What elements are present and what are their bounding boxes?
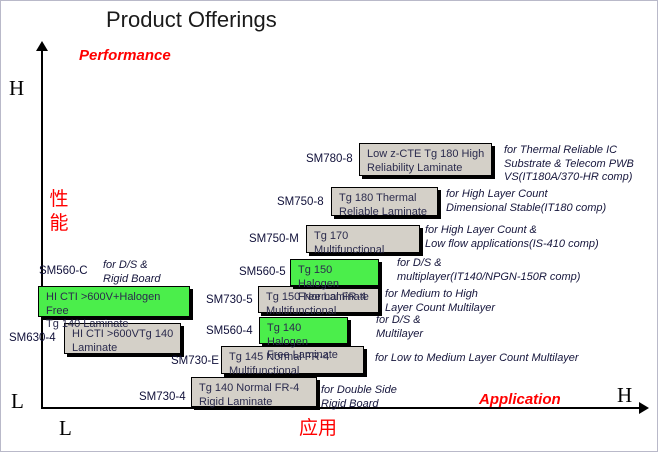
product-box: Tg 140 Halogen Free Laminate: [259, 317, 348, 344]
product-note: for High Layer Count Dimensional Stable(…: [446, 188, 606, 215]
product-box: Low z-CTE Tg 180 High Reliability Lamina…: [359, 143, 492, 176]
product-code-label: SM630-4: [9, 332, 56, 344]
x-axis-title-chinese: 应用: [299, 413, 337, 440]
product-note: for D/S & Multilayer: [376, 314, 423, 341]
product-box: Tg 140 Normal FR-4 Rigid Laminate: [191, 377, 317, 407]
product-code-label: SM730-4: [139, 391, 186, 403]
product-note: for Low to Medium Layer Count Multilayer: [375, 352, 579, 366]
product-box: Tg 170 Multifunctional: [306, 225, 420, 253]
y-axis-high-label: H: [9, 76, 24, 101]
product-code-label: SM750-8: [277, 196, 324, 208]
x-axis-title: Application: [479, 391, 561, 408]
y-axis-arrow-icon: [36, 41, 48, 51]
product-code-label: SM560-5: [239, 266, 286, 278]
product-box: Tg 150 Halogen Free Laminate: [290, 259, 379, 286]
x-axis-high-label: H: [617, 383, 632, 408]
y-axis-low-label: L: [11, 389, 24, 414]
product-offerings-diagram: Product Offerings H L L H Performance Ap…: [0, 0, 658, 452]
y-axis-title: Performance: [79, 47, 171, 64]
product-code-label: SM730-5: [206, 294, 253, 306]
product-code-label: SM560-4: [206, 325, 253, 337]
product-note: for Medium to High Layer Count Multilaye…: [385, 288, 495, 315]
product-box: Tg 180 Thermal Reliable Laminate: [331, 187, 438, 216]
x-axis-arrow-icon: [639, 402, 649, 414]
product-note: for Thermal Reliable IC Substrate & Tele…: [504, 144, 634, 185]
product-code-label: SM560-C: [39, 265, 88, 277]
product-note: for D/S & Rigid Board: [103, 259, 160, 286]
product-box: HI CTI >600V+Halogen Free Tg 140 Laminat…: [38, 286, 190, 317]
product-code-label: SM730-E: [171, 355, 219, 367]
page-title: Product Offerings: [106, 7, 277, 33]
y-axis-line: [41, 49, 43, 409]
product-note: for D/S & multiplayer(IT140/NPGN-150R co…: [397, 257, 580, 284]
product-note: for Double Side Rigid Board: [321, 384, 397, 411]
product-note: for High Layer Count & Low flow applicat…: [425, 224, 599, 251]
y-axis-title-chinese: 性能: [47, 187, 71, 235]
x-axis-low-label: L: [59, 416, 72, 441]
product-code-label: SM750-M: [249, 233, 299, 245]
product-code-label: SM780-8: [306, 153, 353, 165]
